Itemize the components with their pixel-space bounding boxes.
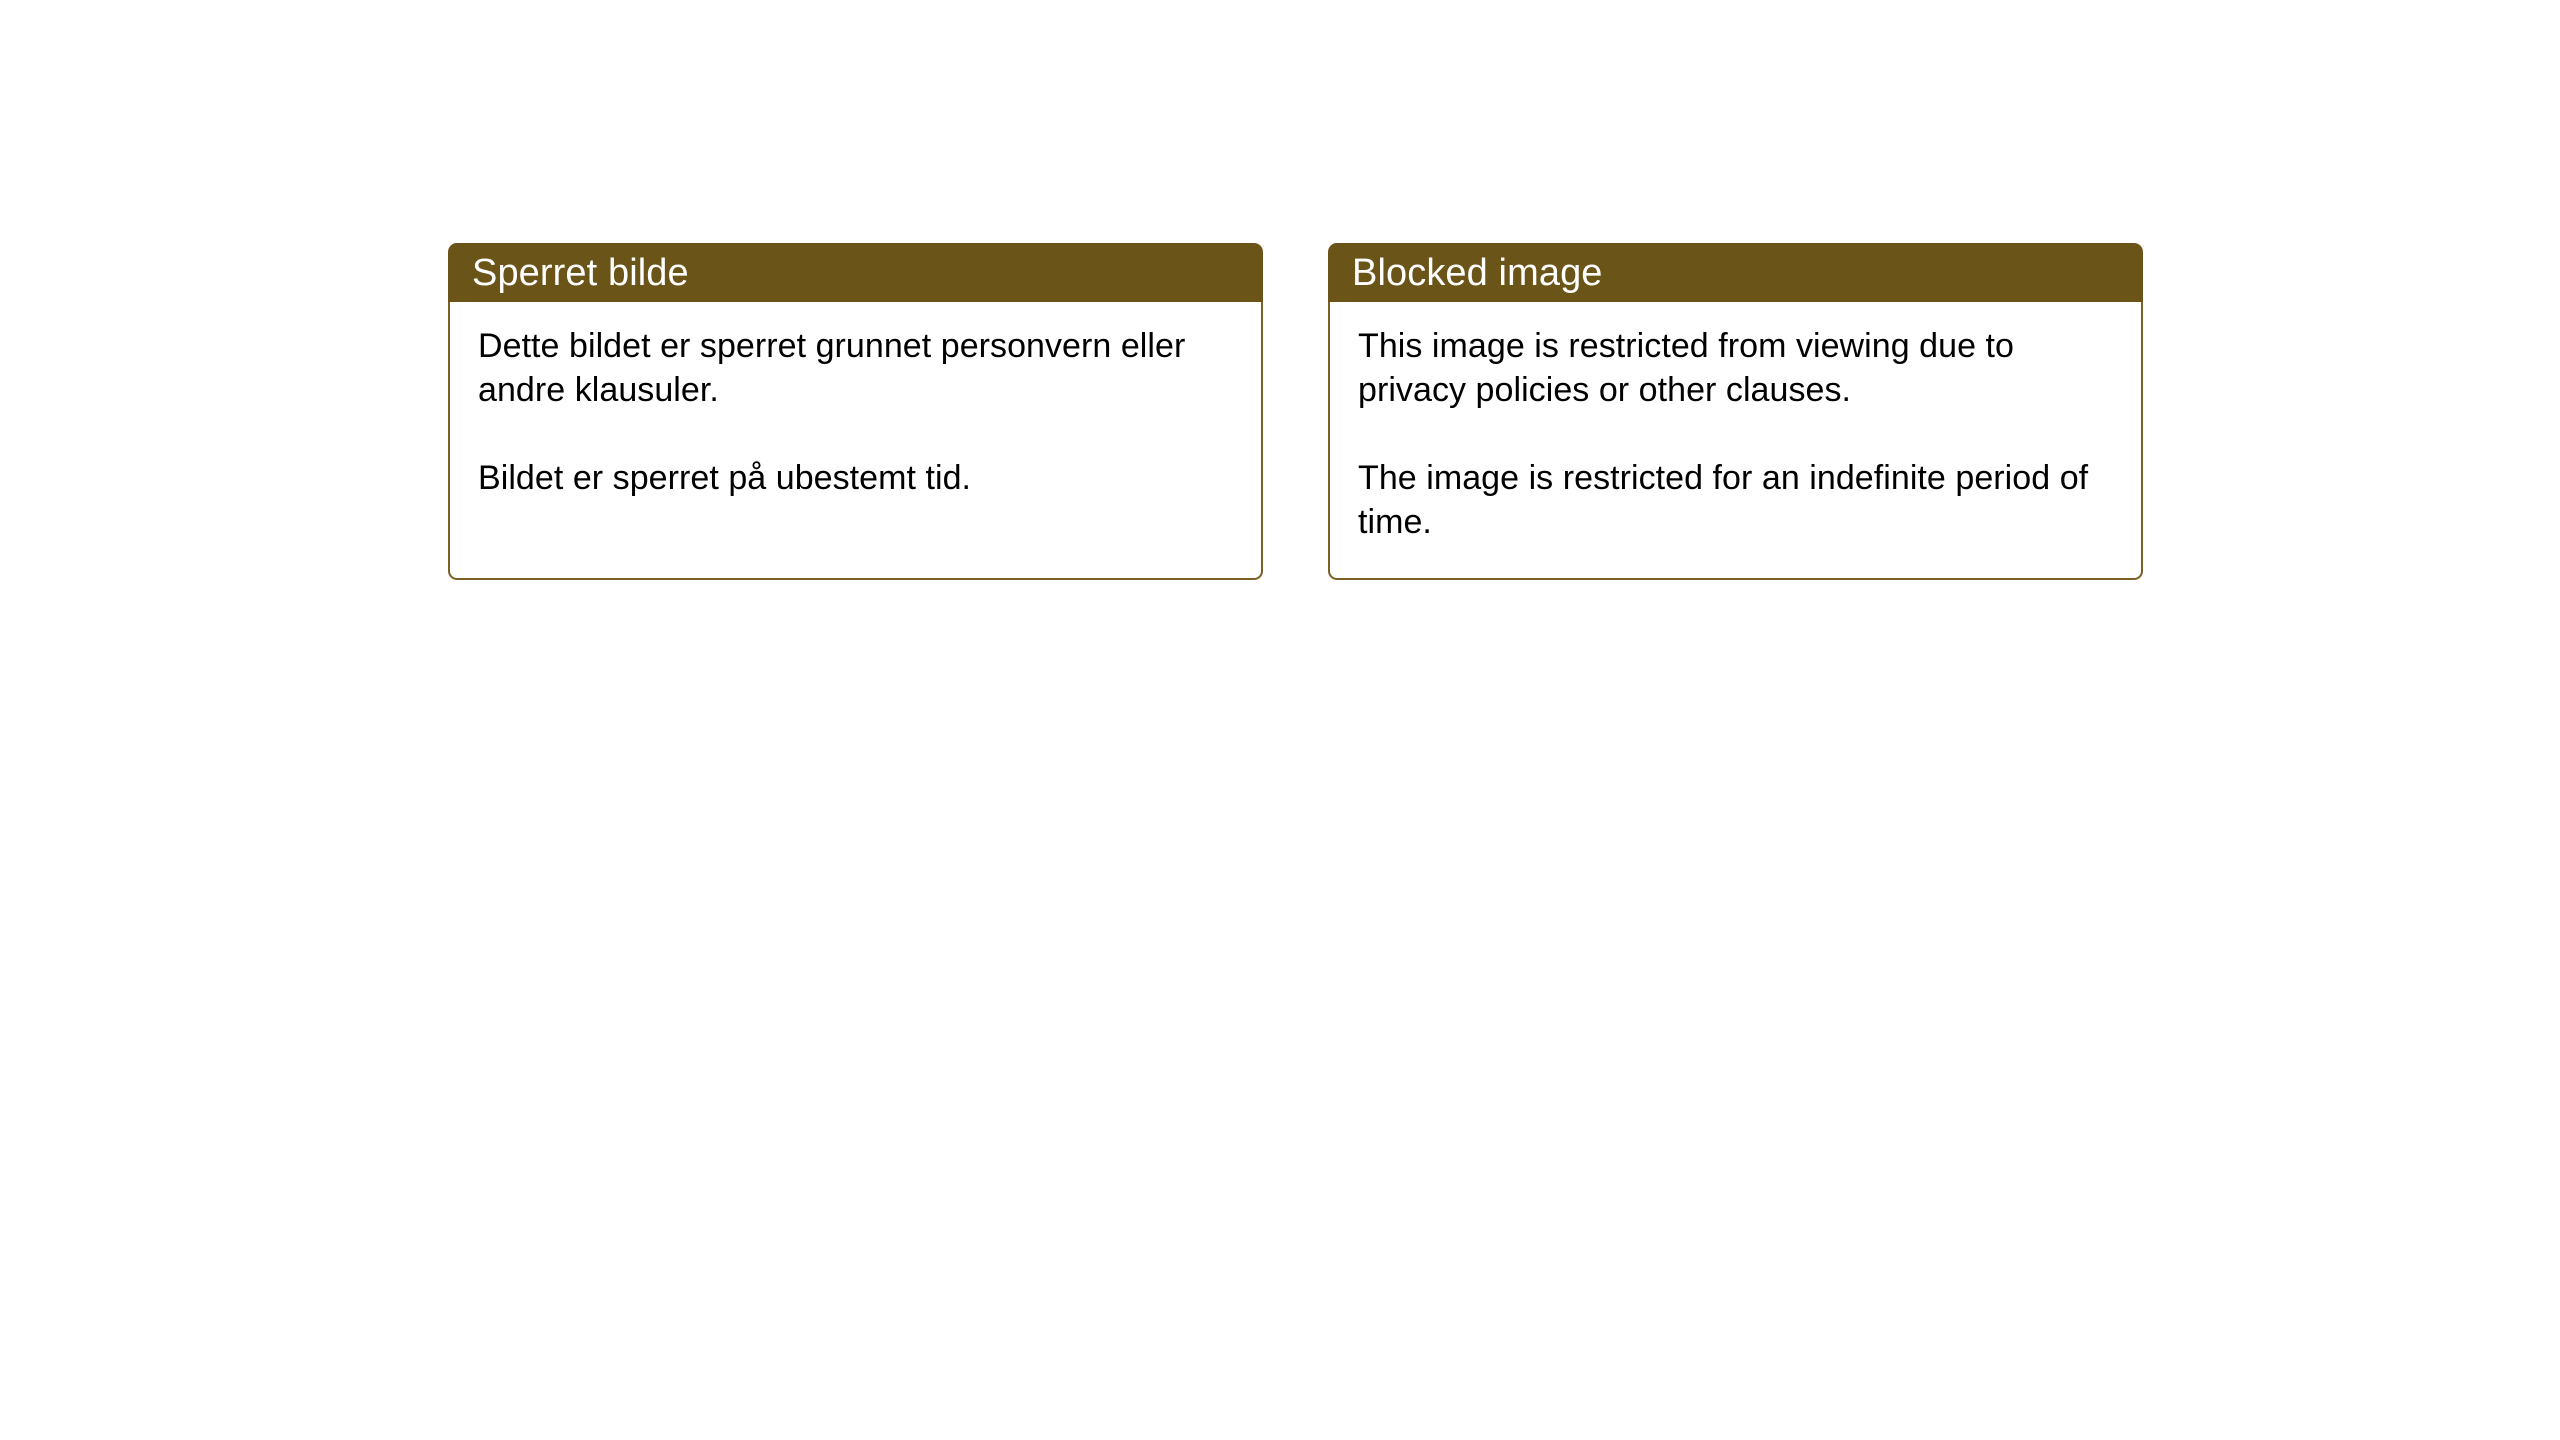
- card-paragraph-en-1: This image is restricted from viewing du…: [1358, 324, 2115, 412]
- card-paragraph-no-1: Dette bildet er sperret grunnet personve…: [478, 324, 1235, 412]
- card-paragraph-en-2: The image is restricted for an indefinit…: [1358, 456, 2115, 544]
- notice-cards-container: Sperret bilde Dette bildet er sperret gr…: [448, 243, 2143, 580]
- blocked-image-notice-card-en: Blocked image This image is restricted f…: [1328, 243, 2143, 580]
- card-title-en: Blocked image: [1352, 251, 1603, 295]
- page-root: Sperret bilde Dette bildet er sperret gr…: [0, 0, 2560, 1440]
- blocked-image-notice-card-no: Sperret bilde Dette bildet er sperret gr…: [448, 243, 1263, 580]
- paragraph-spacer-no: [478, 412, 1235, 456]
- card-header-en: Blocked image: [1328, 243, 2143, 302]
- card-body-en: This image is restricted from viewing du…: [1328, 302, 2143, 580]
- paragraph-spacer-en: [1358, 412, 2115, 456]
- card-paragraph-no-2: Bildet er sperret på ubestemt tid.: [478, 456, 1235, 500]
- card-header-no: Sperret bilde: [448, 243, 1263, 302]
- card-body-no: Dette bildet er sperret grunnet personve…: [448, 302, 1263, 580]
- card-title-no: Sperret bilde: [472, 251, 689, 295]
